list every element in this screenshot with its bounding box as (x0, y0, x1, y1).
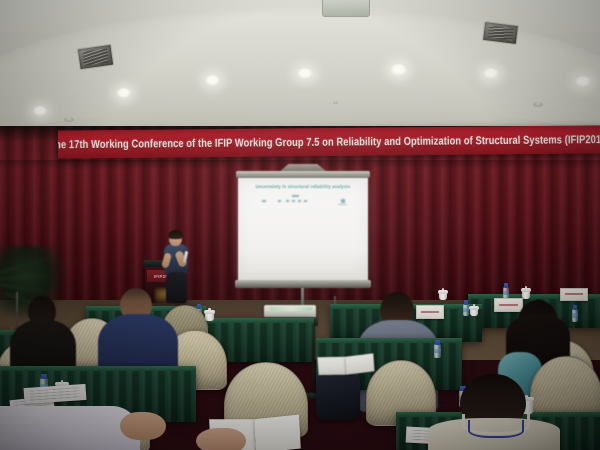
slide-diagram (248, 194, 360, 220)
ceiling-fixture-box (322, 0, 370, 17)
slide-title: Uncertainty in structural reliability an… (246, 184, 360, 189)
tea-cup (205, 310, 214, 321)
attendee-hand-holding-booklet (196, 428, 252, 450)
attendee-white-shirt (0, 398, 170, 450)
sprinkler-icon (333, 101, 338, 104)
screen-top-bar (236, 171, 370, 178)
attendee-hand (196, 428, 246, 450)
shoulder-bag (316, 376, 360, 420)
projection-screen: Uncertainty in structural reliability an… (233, 168, 373, 308)
banner-text: The 17th Working Conference of the IFIP … (58, 133, 600, 151)
smoke-detector-icon (64, 117, 74, 122)
attendee-hand (120, 412, 166, 440)
ceiling-downlight (483, 68, 499, 79)
attendee-lanyard (422, 378, 562, 450)
ceiling-downlight (33, 106, 47, 116)
water-bottle (463, 300, 469, 316)
projector-glow (270, 307, 312, 311)
conference-photo: The 17th Working Conference of the IFIP … (0, 0, 600, 450)
ceiling-downlight (116, 88, 131, 98)
tea-cup (470, 306, 478, 316)
water-bottle (503, 283, 509, 299)
screen-surface: Uncertainty in structural reliability an… (238, 178, 368, 280)
attendee-arm (0, 406, 140, 450)
ceiling-downlight (297, 68, 313, 79)
ceiling-downlight (575, 76, 591, 87)
smoke-detector-icon (533, 102, 543, 107)
speaker-hair (168, 230, 183, 239)
tea-cup (522, 288, 530, 299)
conference-banner: The 17th Working Conference of the IFIP … (58, 125, 600, 158)
air-vent-icon (482, 21, 519, 45)
ceiling-downlight (205, 75, 220, 86)
screen-bottom-bar (235, 280, 371, 288)
water-bottle (434, 340, 441, 358)
tea-cup (439, 290, 447, 300)
ceiling-downlight (390, 64, 407, 76)
lanyard[interactable] (468, 420, 524, 438)
